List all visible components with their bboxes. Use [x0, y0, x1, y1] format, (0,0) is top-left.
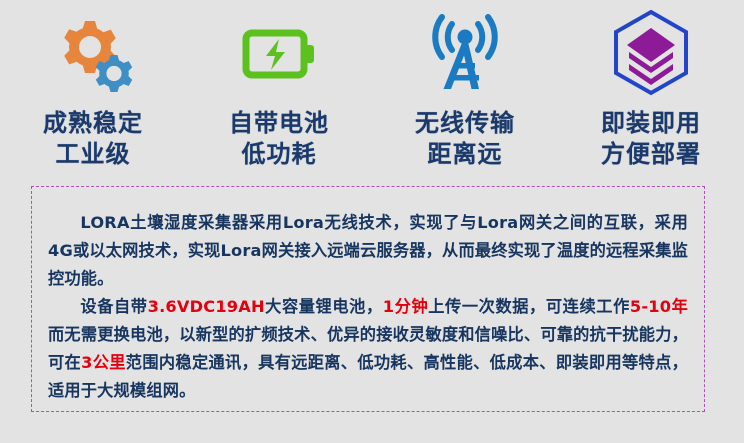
- feature-label-line2: 工业级: [43, 139, 143, 170]
- product-feature-page: 成熟稳定 工业级 自带电池 低功耗: [0, 0, 744, 443]
- feature-label-line1: 成熟稳定: [43, 109, 143, 137]
- wireless-tower-icon: [419, 8, 511, 100]
- feature-label-line1: 即装即用: [601, 109, 701, 137]
- description-box: LORA土壤湿度采集器采用Lora无线技术，实现了与Lora网关之间的互联，采用…: [31, 186, 705, 412]
- feature-item-plug-and-play: 即装即用 方便部署: [558, 8, 744, 180]
- feature-item-mature-stable: 成熟稳定 工业级: [0, 8, 186, 180]
- description-paragraph-2: 设备自带3.6VDC19AH大容量锂电池，1分钟上传一次数据，可连续工作5-10…: [48, 293, 688, 405]
- gears-icon: [47, 8, 139, 100]
- body-text: LORA土壤湿度采集器采用Lora无线技术，实现了与Lora网关之间的互联，采用…: [48, 213, 688, 288]
- highlighted-text: 1分钟: [383, 297, 428, 316]
- feature-label-built-in-battery: 自带电池 低功耗: [229, 108, 329, 169]
- battery-charging-icon: [233, 8, 325, 100]
- feature-item-wireless-transmission: 无线传输 距离远: [372, 8, 558, 180]
- body-text: 设备自带: [80, 297, 147, 316]
- feature-label-line2: 方便部署: [601, 139, 701, 170]
- feature-label-line1: 自带电池: [229, 109, 329, 137]
- body-text: 上传一次数据，可连续工作: [428, 297, 630, 316]
- feature-item-built-in-battery: 自带电池 低功耗: [186, 8, 372, 180]
- feature-label-line1: 无线传输: [415, 109, 515, 137]
- body-text: 范围内稳定通讯，具有远距离、低功耗、高性能、低成本、即装即用等特点，适用于大规模…: [48, 353, 688, 400]
- highlighted-text: 3.6VDC19AH: [148, 297, 265, 316]
- feature-label-line2: 距离远: [415, 139, 515, 170]
- feature-list: 成熟稳定 工业级 自带电池 低功耗: [0, 0, 744, 180]
- description-paragraph-1: LORA土壤湿度采集器采用Lora无线技术，实现了与Lora网关之间的互联，采用…: [48, 209, 688, 293]
- body-text: 大容量锂电池，: [265, 297, 383, 316]
- feature-label-wireless-transmission: 无线传输 距离远: [415, 108, 515, 169]
- hexagon-layers-icon: [605, 8, 697, 100]
- highlighted-text: 3公里: [81, 353, 126, 372]
- feature-label-mature-stable: 成熟稳定 工业级: [43, 108, 143, 169]
- highlighted-text: 5-10年: [630, 297, 688, 316]
- feature-label-line2: 低功耗: [229, 139, 329, 170]
- feature-label-plug-and-play: 即装即用 方便部署: [601, 108, 701, 169]
